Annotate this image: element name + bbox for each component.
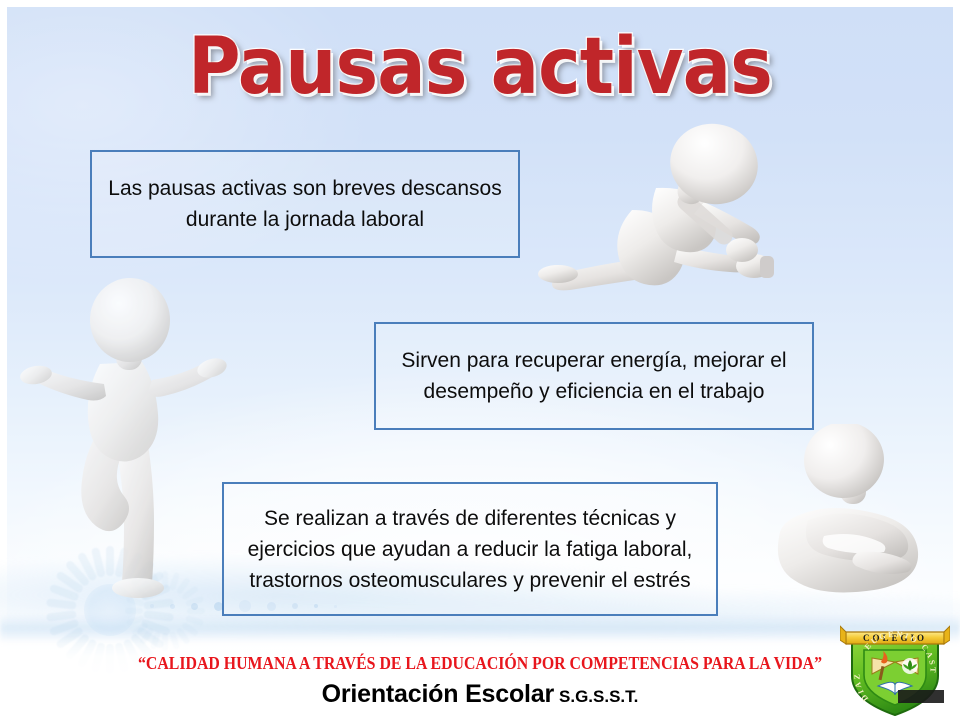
department-name: Orientación Escolar [322, 680, 554, 708]
slide-canvas: Pausas activas [0, 0, 960, 720]
definition-textbox[interactable]: Las pausas activas son breves descansos … [90, 150, 520, 258]
crest-smudge-artifact [898, 690, 944, 703]
crest-plant-icon [902, 658, 918, 674]
methods-textbox[interactable]: Se realizan a través de diferentes técni… [222, 482, 718, 616]
page-title: Pausas activas [38, 24, 921, 110]
department-acronym: S.G.S.S.T. [559, 687, 638, 706]
school-crest-logo[interactable]: COLEGIO EUGENIO DIAZ CASTRO [840, 618, 950, 718]
benefits-textbox[interactable]: Sirven para recuperar energía, mejorar e… [374, 322, 814, 430]
department-line: Orientación EscolarS.G.S.S.T. [0, 680, 960, 709]
school-slogan: “CALIDAD HUMANA A TRAVÉS DE LA EDUCACIÓN… [58, 652, 903, 674]
